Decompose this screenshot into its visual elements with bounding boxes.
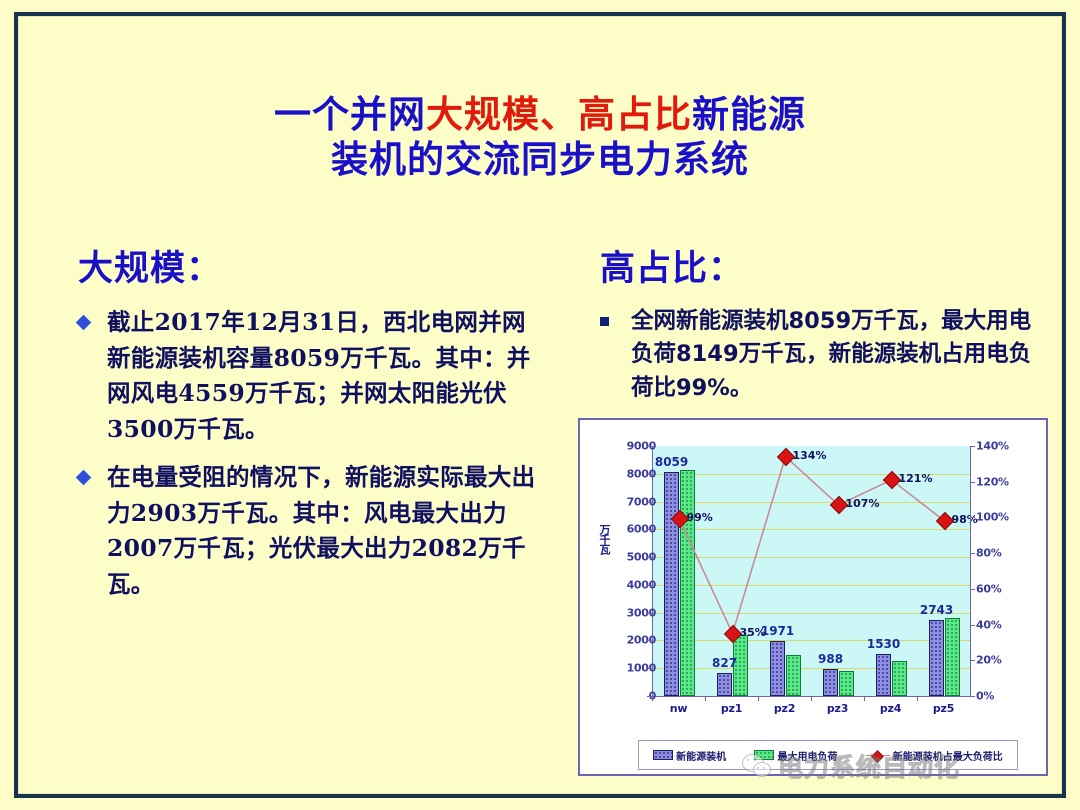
list-item: 截止2017年12月31日，西北电网并网新能源装机容量8059万千瓦。其中：并网… [78,305,548,448]
chart-container: 万千瓦 805982719719881530274399%35%134%107%… [578,418,1048,776]
chart-y-tick-mark [647,640,652,641]
chart-percent-label: 107% [846,497,880,510]
chart-y2-tick-label: 60% [976,582,1026,595]
diamond-bullet-icon [76,470,92,486]
chart-y2-tick-label: 40% [976,618,1026,631]
title-part-blue-2: 新能源 [692,93,806,136]
chart-y-tick-mark [647,557,652,558]
chart-x-tick-mark [864,696,865,701]
chart-percent-label: 35% [740,626,766,639]
chart-y-tick-mark [647,446,652,447]
chart-legend-item[interactable]: 新能源装机 [653,748,726,763]
chart-legend-label: 新能源装机 [676,748,726,763]
chart-y2-tick-label: 140% [976,440,1026,453]
left-column: 大规模： 截止2017年12月31日，西北电网并网新能源装机容量8059万千瓦。… [78,240,548,615]
chart-x-tick-mark [917,696,918,701]
chart-y-tick-mark [647,529,652,530]
chart-percent-label: 98% [952,513,978,526]
chart-y-tick-mark [647,585,652,586]
title-part-red: 大规模、高占比 [426,93,692,136]
chart-y2-tick-label: 80% [976,547,1026,560]
chart-x-tick-label: pz4 [880,702,901,715]
chart-x-tick-mark [652,696,653,701]
diamond-bullet-icon [76,315,92,331]
chart-x-tick-label: pz1 [721,702,742,715]
chart-y2-tick-label: 100% [976,511,1026,524]
chart-x-tick-label: nw [670,702,688,715]
chart-x-tick-mark [811,696,812,701]
title-line-1: 一个并网大规模、高占比新能源 [0,92,1080,137]
chart-legend-swatch [653,750,673,760]
title-line-2: 装机的交流同步电力系统 [0,137,1080,182]
chart-y2-tick-label: 20% [976,654,1026,667]
left-column-heading: 大规模： [78,240,548,291]
chart-right-axis [970,446,971,696]
chart-legend-label: 最大用电负荷 [777,748,837,763]
chart-percent-label: 121% [899,472,933,485]
chart-percent-label: 99% [687,511,713,524]
square-bullet-icon [600,317,609,326]
chart-x-tick-label: pz3 [827,702,848,715]
chart-legend: 新能源装机最大用电负荷新能源装机占最大负荷比 [638,740,1018,770]
left-bullet-text-2: 在电量受阻的情况下，新能源实际最大出力2903万千瓦。其中：风电最大出力2007… [107,460,548,603]
right-bullet-text-1: 全网新能源装机8059万千瓦，最大用电负荷8149万千瓦，新能源装机占用电负荷比… [631,305,1052,405]
right-column: 高占比： 全网新能源装机8059万千瓦，最大用电负荷8149万千瓦，新能源装机占… [600,240,1052,417]
chart-y-tick-mark [647,668,652,669]
chart-x-tick-mark [705,696,706,701]
left-bullet-text-1: 截止2017年12月31日，西北电网并网新能源装机容量8059万千瓦。其中：并网… [107,305,548,448]
page-title: 一个并网大规模、高占比新能源 装机的交流同步电力系统 [0,92,1080,182]
chart-x-tick-label: pz2 [774,702,795,715]
chart-plot-area: 805982719719881530274399%35%134%107%121%… [652,446,971,697]
title-part-blue-1: 一个并网 [274,93,426,136]
chart-legend-swatch [866,750,890,760]
chart-y-axis-title: 万千瓦 [592,524,610,554]
list-item: 全网新能源装机8059万千瓦，最大用电负荷8149万千瓦，新能源装机占用电负荷比… [600,305,1052,405]
chart-legend-item[interactable]: 最大用电负荷 [754,748,837,763]
chart-y2-tick-label: 0% [976,690,1026,703]
chart-legend-swatch [754,750,774,760]
chart-y-tick-mark [647,474,652,475]
chart-x-tick-label: pz5 [933,702,954,715]
chart-legend-item[interactable]: 新能源装机占最大负荷比 [866,748,1003,763]
chart-percent-label: 134% [793,449,827,462]
chart-legend-label: 新能源装机占最大负荷比 [893,748,1003,763]
chart-area: 万千瓦 805982719719881530274399%35%134%107%… [590,428,1040,728]
right-column-heading: 高占比： [600,240,1052,291]
chart-y2-tick-mark [970,696,975,697]
chart-y-tick-mark [647,502,652,503]
list-item: 在电量受阻的情况下，新能源实际最大出力2903万千瓦。其中：风电最大出力2007… [78,460,548,603]
slide-root: 一个并网大规模、高占比新能源 装机的交流同步电力系统 大规模： 截止2017年1… [0,0,1080,810]
chart-x-tick-mark [758,696,759,701]
chart-y2-tick-label: 120% [976,475,1026,488]
chart-y-tick-mark [647,613,652,614]
